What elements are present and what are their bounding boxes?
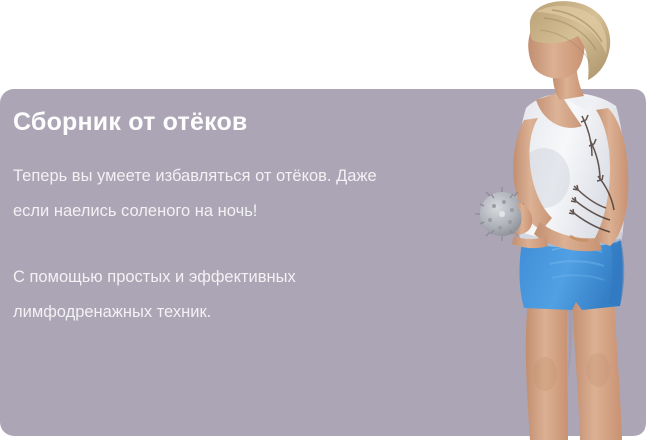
woman-illustration [432, 0, 654, 440]
promo-paragraph-secondary: С помощью простых и эффективных лимфодре… [13, 260, 398, 330]
promo-paragraph-primary: Теперь вы умеете избавляться от отёков. … [13, 159, 398, 229]
page-title: Сборник от отёков [13, 107, 413, 137]
woman-photo [432, 0, 654, 440]
promo-banner: Сборник от отёков Теперь вы умеете избав… [0, 0, 654, 440]
promo-card-text: Сборник от отёков Теперь вы умеете избав… [13, 107, 413, 330]
